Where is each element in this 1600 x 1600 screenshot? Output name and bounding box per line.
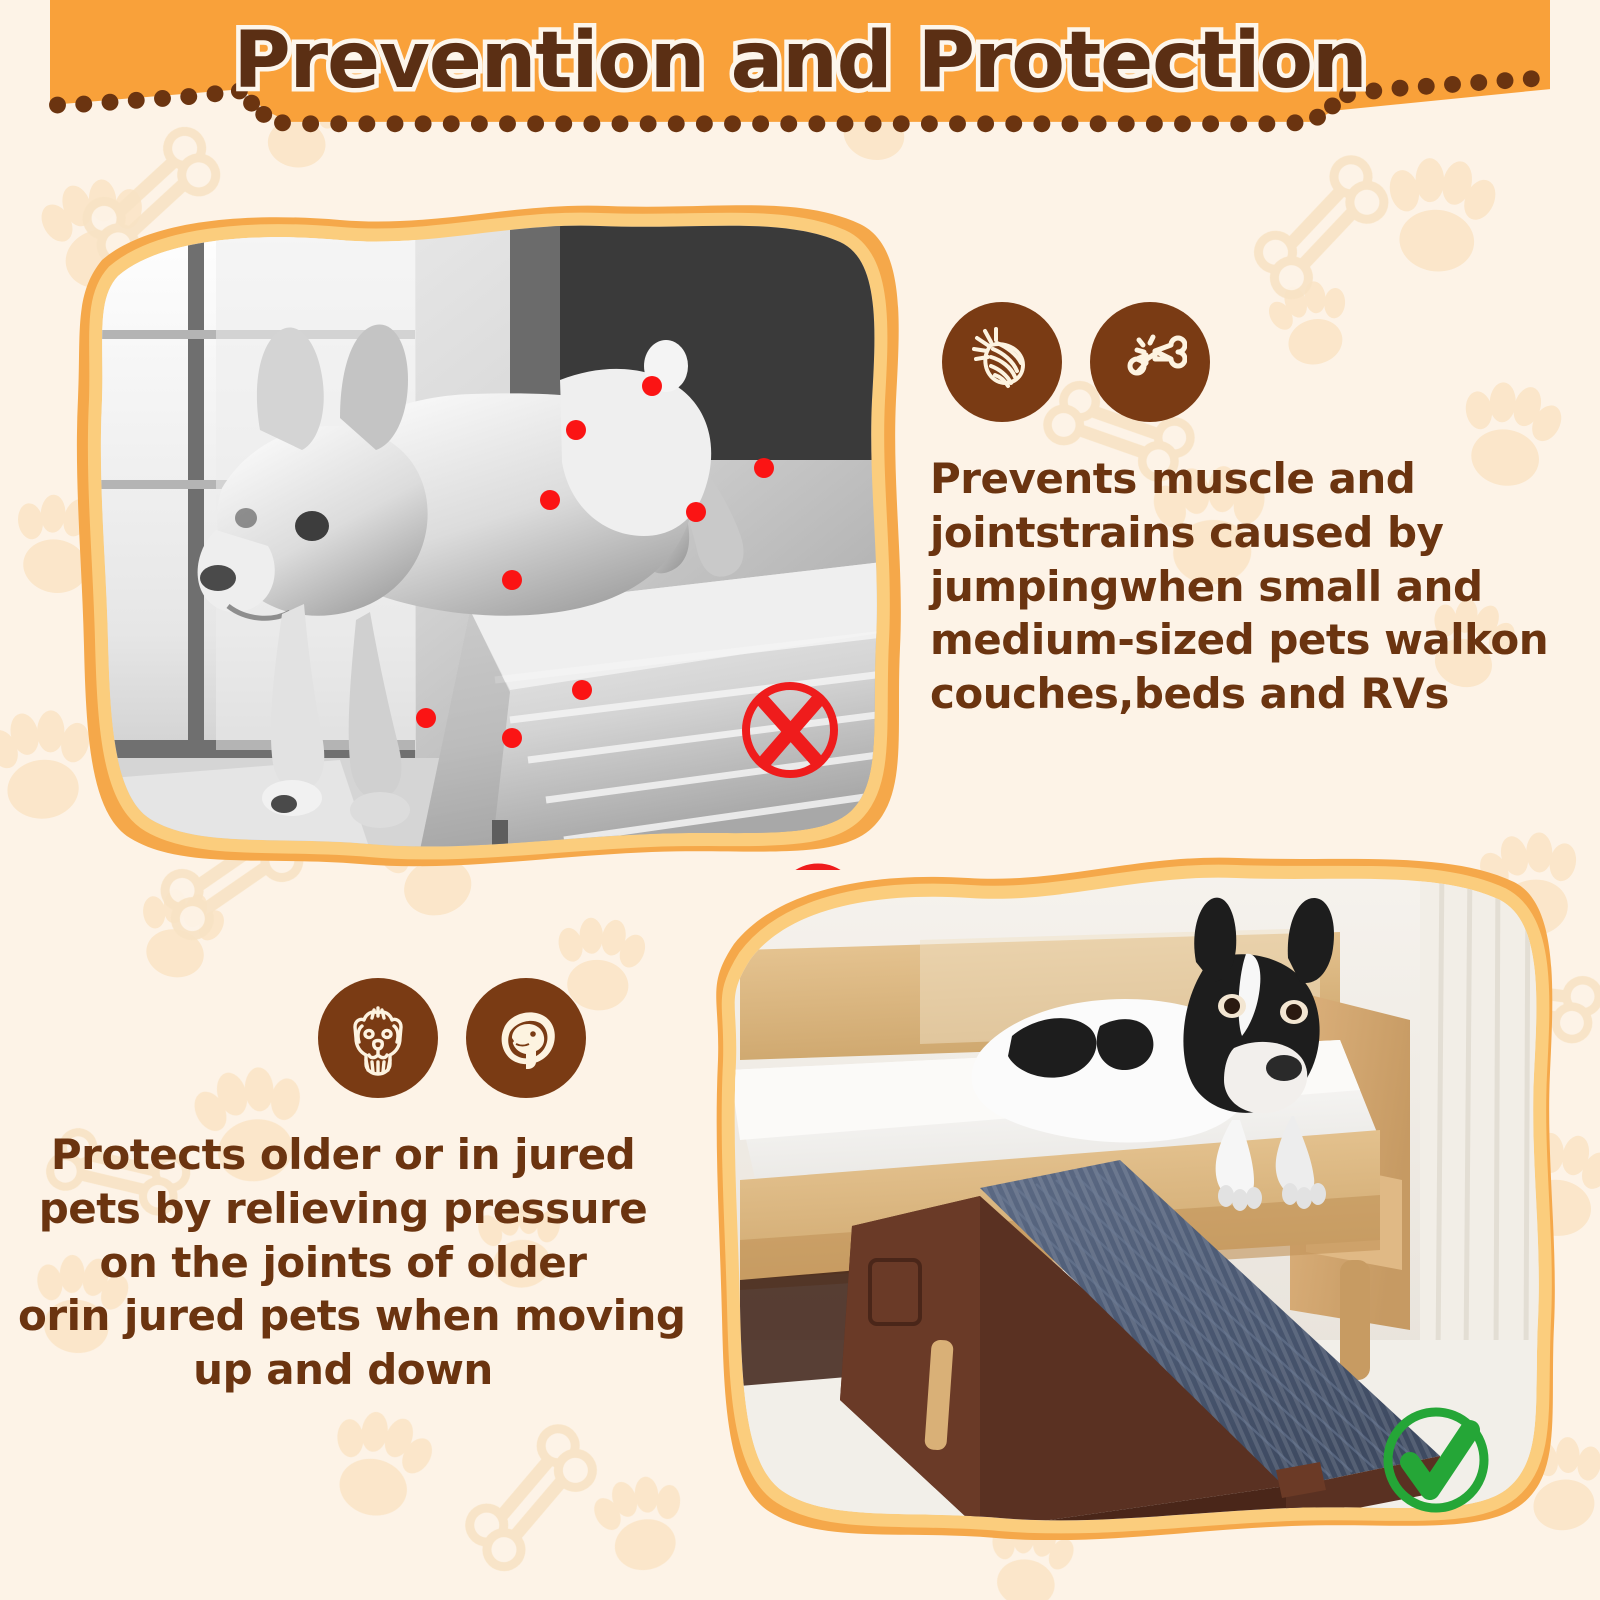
text-line: pets by relieving pressure (18, 1182, 668, 1236)
text-line: up and down (18, 1343, 668, 1397)
feature-prevents-text: Prevents muscle and jointstrains caused … (930, 452, 1590, 721)
feature-protects-icons (318, 978, 586, 1098)
feature-prevents-icons (942, 302, 1210, 422)
text-line: jumpingwhen small and (930, 560, 1590, 614)
feature-protects-text: Protects older or in jured pets by relie… (18, 1128, 668, 1397)
text-line: on the joints of older (18, 1236, 668, 1290)
text-line: orin jured pets when moving (18, 1289, 668, 1343)
muscle-strain-icon (942, 302, 1062, 422)
text-line: Protects older or in jured (18, 1128, 668, 1182)
x-mark-icon (720, 660, 860, 800)
dog-on-bed-with-pet-ramp-photo (680, 840, 1590, 1540)
page-title: Prevention and Protection (0, 16, 1600, 106)
dog-with-cone-icon (466, 978, 586, 1098)
text-line: couches,beds and RVs (930, 667, 1590, 721)
text-line: medium-sized pets walkon (930, 613, 1590, 667)
senior-dog-icon (318, 978, 438, 1098)
text-line: jointstrains caused by (930, 506, 1590, 560)
text-line: Prevents muscle and (930, 452, 1590, 506)
broken-bone-icon (1090, 302, 1210, 422)
